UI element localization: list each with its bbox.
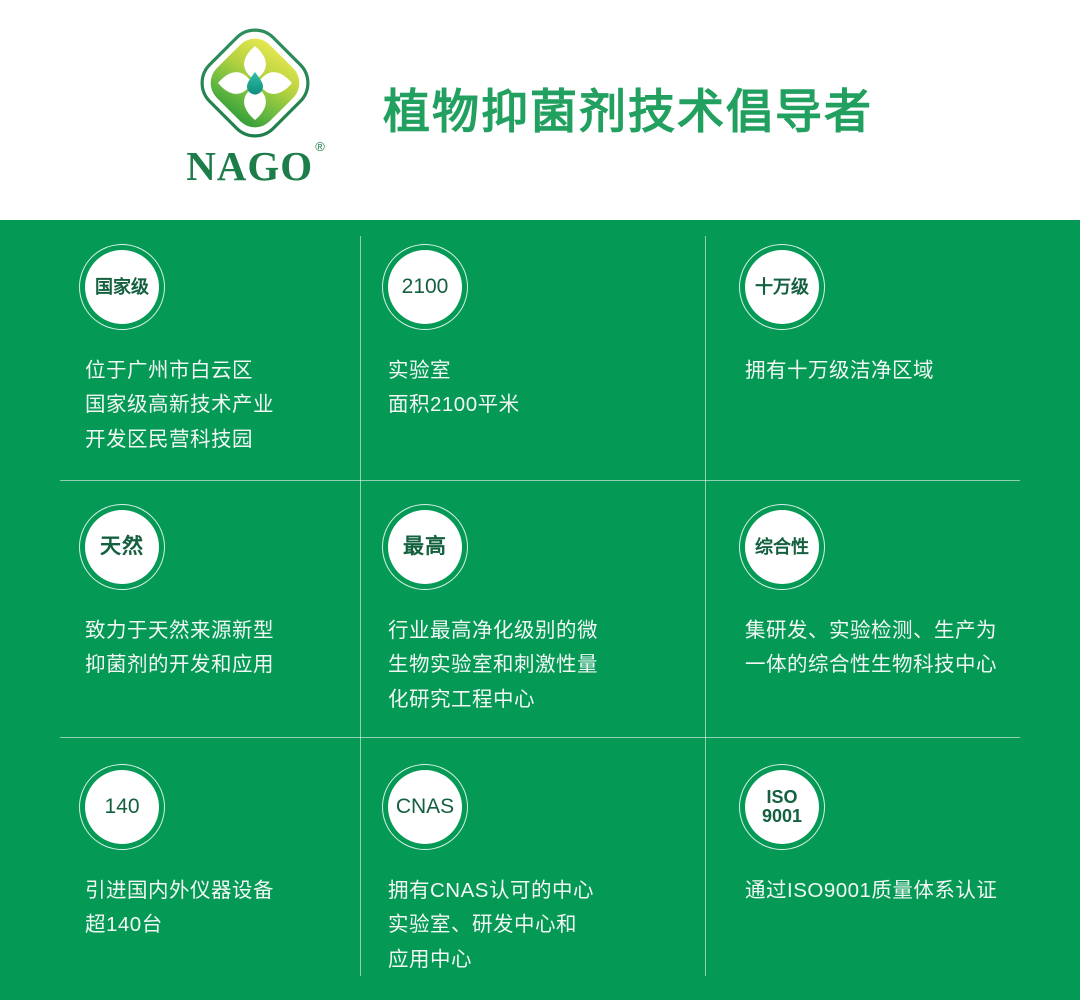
brand-wordmark-text: NAGO xyxy=(186,143,313,189)
feature-description: 通过ISO9001质量体系认证 xyxy=(745,874,1040,908)
page-root: NAGO® 植物抑菌剂技术倡导者 国家级 位于广州市白云区 国家级高新技术产业 … xyxy=(0,0,1080,1000)
feature-description: 行业最高净化级别的微 生物实验室和刺激性量 化研究工程中心 xyxy=(388,614,680,717)
features-grid: 国家级 位于广州市白云区 国家级高新技术产业 开发区民营科技园 2100 实验室… xyxy=(0,220,1080,1000)
brand-block: NAGO® xyxy=(180,22,330,192)
feature-cell: 国家级 位于广州市白云区 国家级高新技术产业 开发区民营科技园 xyxy=(0,220,360,480)
feature-badge-label: 最高 xyxy=(403,536,447,558)
feature-badge: 天然 xyxy=(85,510,159,584)
feature-badge: 十万级 xyxy=(745,250,819,324)
page-title: 植物抑菌剂技术倡导者 xyxy=(383,86,873,138)
feature-description: 拥有十万级洁净区域 xyxy=(745,354,1040,388)
feature-badge-label: CNAS xyxy=(396,796,454,818)
feature-badge-label: ISO 9001 xyxy=(762,788,802,827)
feature-badge-label: 国家级 xyxy=(95,278,149,297)
feature-cell: 140 引进国内外仪器设备 超140台 xyxy=(0,740,360,1000)
feature-description: 拥有CNAS认可的中心 实验室、研发中心和 应用中心 xyxy=(388,874,680,977)
feature-badge: ISO 9001 xyxy=(745,770,819,844)
feature-cell: ISO 9001 通过ISO9001质量体系认证 xyxy=(720,740,1080,1000)
feature-description: 集研发、实验检测、生产为 一体的综合性生物科技中心 xyxy=(745,614,1040,683)
feature-cell: 十万级 拥有十万级洁净区域 xyxy=(720,220,1080,480)
feature-badge-label: 十万级 xyxy=(755,278,809,297)
registered-trademark-icon: ® xyxy=(315,139,326,154)
feature-description: 致力于天然来源新型 抑菌剂的开发和应用 xyxy=(85,614,320,683)
feature-cell: 天然 致力于天然来源新型 抑菌剂的开发和应用 xyxy=(0,480,360,740)
feature-badge: 2100 xyxy=(388,250,462,324)
feature-cell: CNAS 拥有CNAS认可的中心 实验室、研发中心和 应用中心 xyxy=(360,740,720,1000)
feature-badge: CNAS xyxy=(388,770,462,844)
feature-badge-label: 天然 xyxy=(100,536,144,558)
feature-description: 实验室 面积2100平米 xyxy=(388,354,680,423)
feature-description: 引进国内外仪器设备 超140台 xyxy=(85,874,320,943)
page-header: NAGO® 植物抑菌剂技术倡导者 xyxy=(0,0,1080,220)
feature-cell: 最高 行业最高净化级别的微 生物实验室和刺激性量 化研究工程中心 xyxy=(360,480,720,740)
feature-badge: 最高 xyxy=(388,510,462,584)
feature-description: 位于广州市白云区 国家级高新技术产业 开发区民营科技园 xyxy=(85,354,320,457)
feature-badge-label: 综合性 xyxy=(755,538,809,557)
feature-badge-label: 2100 xyxy=(402,276,449,298)
brand-wordmark: NAGO® xyxy=(186,146,324,187)
feature-badge: 综合性 xyxy=(745,510,819,584)
feature-cell: 综合性 集研发、实验检测、生产为 一体的综合性生物科技中心 xyxy=(720,480,1080,740)
feature-cell: 2100 实验室 面积2100平米 xyxy=(360,220,720,480)
feature-badge: 国家级 xyxy=(85,250,159,324)
features-panel: 国家级 位于广州市白云区 国家级高新技术产业 开发区民营科技园 2100 实验室… xyxy=(0,220,1080,1000)
nago-flower-logo-icon xyxy=(194,22,316,144)
feature-badge: 140 xyxy=(85,770,159,844)
feature-badge-label: 140 xyxy=(104,796,139,818)
